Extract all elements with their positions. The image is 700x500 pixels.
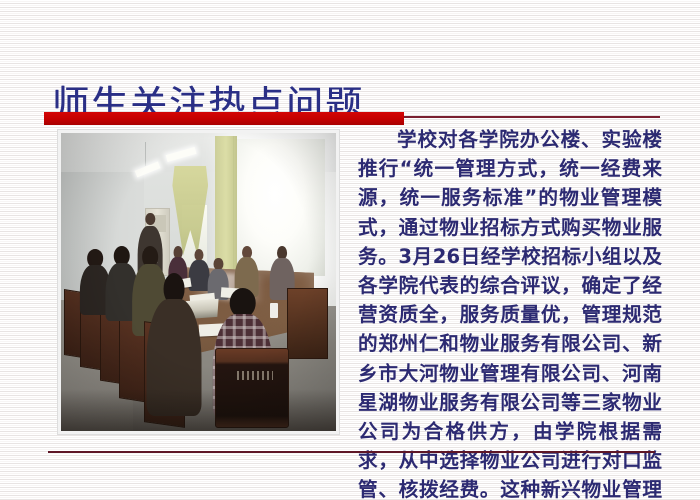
photo-person-seated-near xyxy=(146,273,201,416)
title-thin-rule xyxy=(404,116,660,118)
title-divider xyxy=(44,112,660,126)
photo-light-cord xyxy=(145,142,146,166)
photo-chair-back-label xyxy=(237,371,273,380)
meeting-photo-image xyxy=(61,133,336,431)
red-accent-bar xyxy=(44,112,404,125)
photo-foreground-chair xyxy=(215,348,289,428)
bottom-divider xyxy=(48,451,655,453)
photo-person-head xyxy=(146,213,155,225)
body-paragraph: 学校对各学院办公楼、实验楼推行“统一管理方式，统一经费来源，统一服务标准”的物业… xyxy=(358,125,662,500)
meeting-photo xyxy=(58,130,339,434)
photo-chair xyxy=(287,288,328,360)
slide-canvas: 师生关注热点问题 xyxy=(0,0,700,500)
photo-person-body xyxy=(146,299,201,416)
